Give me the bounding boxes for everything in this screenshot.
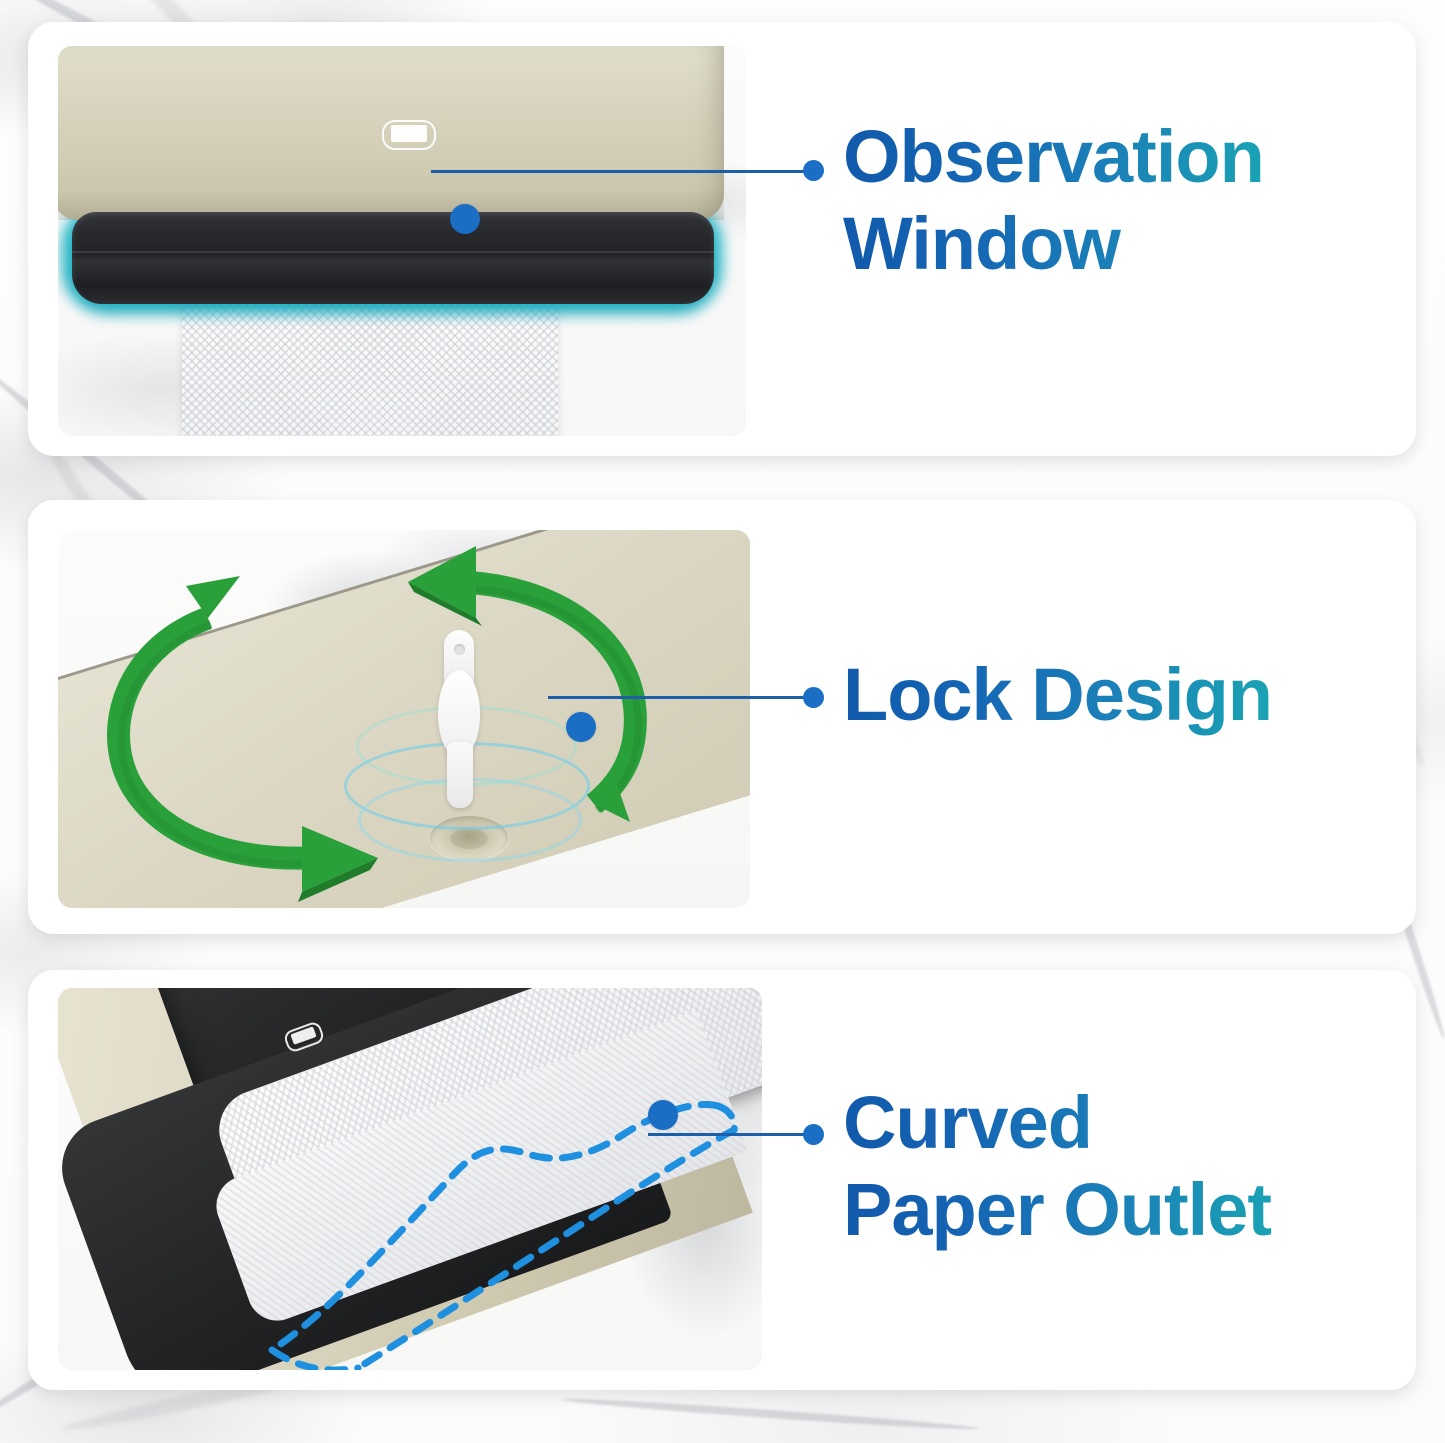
callout-endpoint-dot-icon xyxy=(803,1124,824,1145)
feature-card-observation-window: Observation Window xyxy=(28,22,1416,456)
callout-dot-icon xyxy=(450,204,480,234)
product-photo-curved-paper-outlet xyxy=(58,988,762,1370)
callout-dot-icon xyxy=(648,1100,678,1130)
lock-knob xyxy=(436,630,482,808)
feature-label-lock-design: Lock Design xyxy=(843,652,1413,739)
product-photo-lock-design xyxy=(58,530,750,908)
callout-connector-line xyxy=(431,170,806,173)
callout-connector-line xyxy=(548,696,804,699)
product-photo-observation-window xyxy=(58,46,746,436)
observation-window-panel xyxy=(72,212,714,304)
latch-indicator-icon xyxy=(382,120,436,150)
knob-stem xyxy=(447,742,473,808)
callout-connector-line xyxy=(648,1133,804,1136)
marble-vein xyxy=(560,1395,980,1432)
dashed-outline-icon xyxy=(58,988,762,1370)
paper-towel-sheet xyxy=(182,298,558,436)
feature-label-observation-window: Observation Window xyxy=(843,114,1413,287)
feature-label-curved-paper-outlet: Curved Paper Outlet xyxy=(843,1080,1416,1253)
callout-dot-icon xyxy=(566,712,596,742)
callout-endpoint-dot-icon xyxy=(803,687,824,708)
feature-card-lock-design: Lock Design xyxy=(28,500,1416,934)
feature-card-curved-paper-outlet: Curved Paper Outlet xyxy=(28,970,1416,1390)
callout-endpoint-dot-icon xyxy=(803,160,824,181)
knob-hole-icon xyxy=(454,644,465,655)
dispenser-body xyxy=(58,46,724,220)
